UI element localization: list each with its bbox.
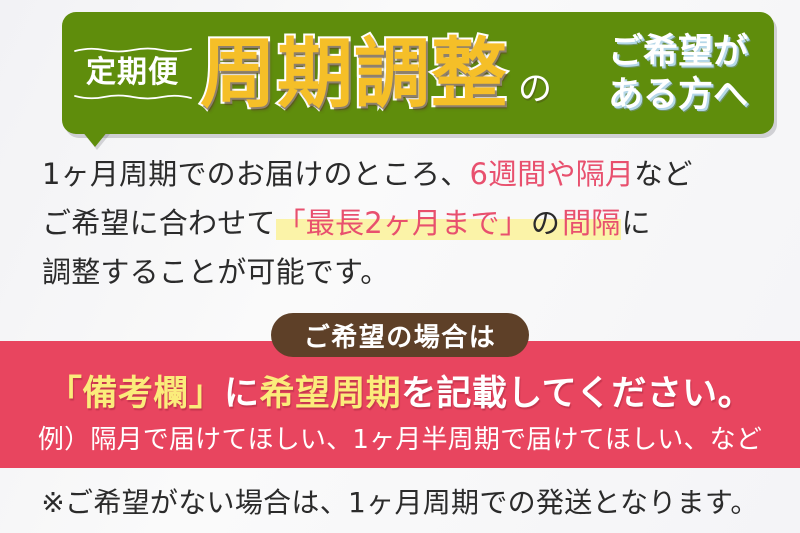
header-section: 定期便 周期調整 の ご希望が ある方へ bbox=[0, 0, 800, 148]
body-line2-highlight-interval: 間隔 bbox=[561, 206, 621, 240]
wavy-line-top-icon bbox=[74, 46, 192, 54]
instruction-headline: 「備考欄」に希望周期を記載してください。 bbox=[0, 365, 800, 416]
body-line2-part-e: に bbox=[621, 206, 650, 240]
header-title-particle: の bbox=[518, 61, 552, 110]
body-line2-part-c: の bbox=[530, 206, 561, 240]
body-paragraph: 1ヶ月周期でのお届けのところ、6週間や隔月など ご希望に合わせて「最長2ヶ月まで… bbox=[42, 150, 772, 297]
body-line2-highlight-maxtwomonths: 「最長2ヶ月まで」 bbox=[276, 206, 530, 240]
header-subtitle-line1: ご希望が bbox=[608, 31, 780, 74]
header-subtitle: ご希望が ある方へ bbox=[608, 26, 780, 122]
instruction-desired-cycle: 希望周期 bbox=[259, 374, 401, 414]
header-subtitle-line2: ある方へ bbox=[608, 74, 780, 117]
header-speech-tail-icon bbox=[82, 131, 108, 147]
body-line-1: 1ヶ月周期でのお届けのところ、6週間や隔月など bbox=[42, 150, 772, 199]
request-case-badge: ご希望の場合は bbox=[271, 313, 529, 357]
instruction-part-b: に bbox=[224, 374, 259, 414]
wavy-line-bottom-icon bbox=[74, 92, 192, 100]
instruction-band: 「備考欄」に希望周期を記載してください。 例）隔月で届けてほしい、1ヶ月半周期で… bbox=[0, 341, 800, 468]
body-line1-part-e: など bbox=[634, 157, 692, 191]
footer-note: ※ご希望がない場合は、1ヶ月周期での発送となります。 bbox=[0, 481, 800, 521]
body-line-2: ご希望に合わせて「最長2ヶ月まで」の間隔に bbox=[42, 199, 772, 248]
body-line1-accent-everyothermonth: 隔月 bbox=[576, 157, 634, 191]
promo-banner: 定期便 周期調整 の ご希望が ある方へ 1ヶ月周期でのお届けのところ、6週間や… bbox=[0, 0, 800, 533]
header-title: 周期調整 の bbox=[200, 24, 552, 124]
subscription-badge-label: 定期便 bbox=[86, 54, 179, 93]
request-case-badge-label: ご希望の場合は bbox=[304, 317, 497, 354]
subscription-badge: 定期便 bbox=[70, 34, 195, 112]
body-line2-part-a: ご希望に合わせて bbox=[42, 206, 276, 240]
body-line1-part-c: や bbox=[547, 157, 576, 191]
body-line1-accent-6weeks: 6週間 bbox=[469, 157, 546, 191]
instruction-part-d: を記載してください。 bbox=[401, 374, 753, 414]
body-line-3: 調整することが可能です。 bbox=[42, 248, 772, 297]
header-title-main: 周期調整 bbox=[200, 36, 508, 112]
instruction-example: 例）隔月で届けてほしい、1ヶ月半周期で届けてほしい、など bbox=[0, 419, 800, 456]
body-line1-part-a: 1ヶ月周期でのお届けのところ、 bbox=[42, 157, 469, 191]
instruction-remarks-field: 「備考欄」 bbox=[47, 374, 224, 414]
